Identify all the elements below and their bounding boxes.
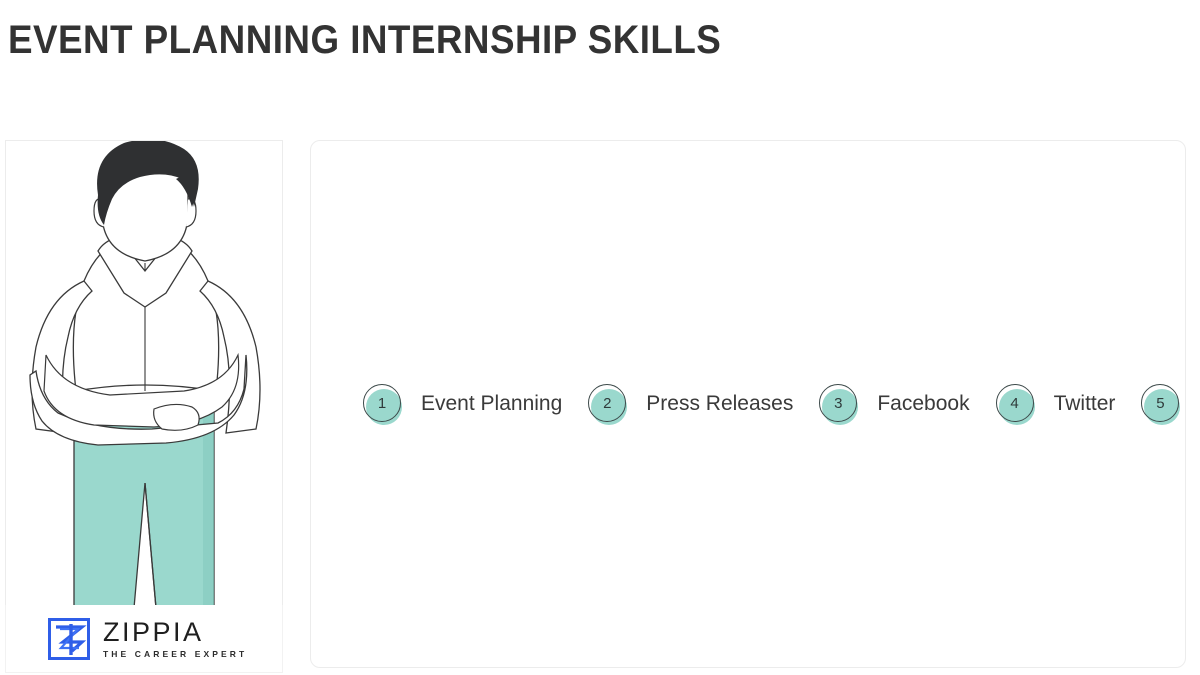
zippia-wordmark: ZIPPIA bbox=[103, 618, 247, 647]
zippia-tagline: THE CAREER EXPERT bbox=[103, 648, 247, 660]
illustration-panel bbox=[5, 140, 283, 605]
zippia-z-mark bbox=[48, 618, 90, 660]
badge-number: 4 bbox=[996, 384, 1034, 422]
skill-number-badge: 5 bbox=[1141, 384, 1181, 424]
skill-item: 1Event Planning bbox=[337, 175, 562, 633]
badge-number: 3 bbox=[819, 384, 857, 422]
skill-item: 4Twitter bbox=[970, 175, 1116, 633]
skill-item: 3Facebook bbox=[793, 175, 969, 633]
man-crossed-arms-illustration bbox=[6, 141, 283, 605]
badge-number: 5 bbox=[1141, 384, 1179, 422]
skill-number-badge: 3 bbox=[819, 384, 859, 424]
skill-label: Press Releases bbox=[646, 391, 793, 417]
page-title: EVENT PLANNING INTERNSHIP SKILLS bbox=[8, 16, 721, 64]
skill-number-badge: 4 bbox=[996, 384, 1036, 424]
skills-list: 1Event Planning2Press Releases3Facebook4… bbox=[311, 141, 1185, 667]
zippia-logo: ZIPPIA THE CAREER EXPERT bbox=[5, 605, 283, 673]
skill-number-badge: 1 bbox=[363, 384, 403, 424]
skills-card: 1Event Planning2Press Releases3Facebook4… bbox=[310, 140, 1186, 668]
skill-item: 2Press Releases bbox=[562, 175, 793, 633]
skill-item: 5Instagram bbox=[1115, 175, 1200, 633]
skill-label: Twitter bbox=[1054, 391, 1116, 417]
badge-number: 1 bbox=[363, 384, 401, 422]
badge-number: 2 bbox=[588, 384, 626, 422]
skill-number-badge: 2 bbox=[588, 384, 628, 424]
skill-label: Facebook bbox=[877, 391, 969, 417]
skill-label: Event Planning bbox=[421, 391, 562, 417]
